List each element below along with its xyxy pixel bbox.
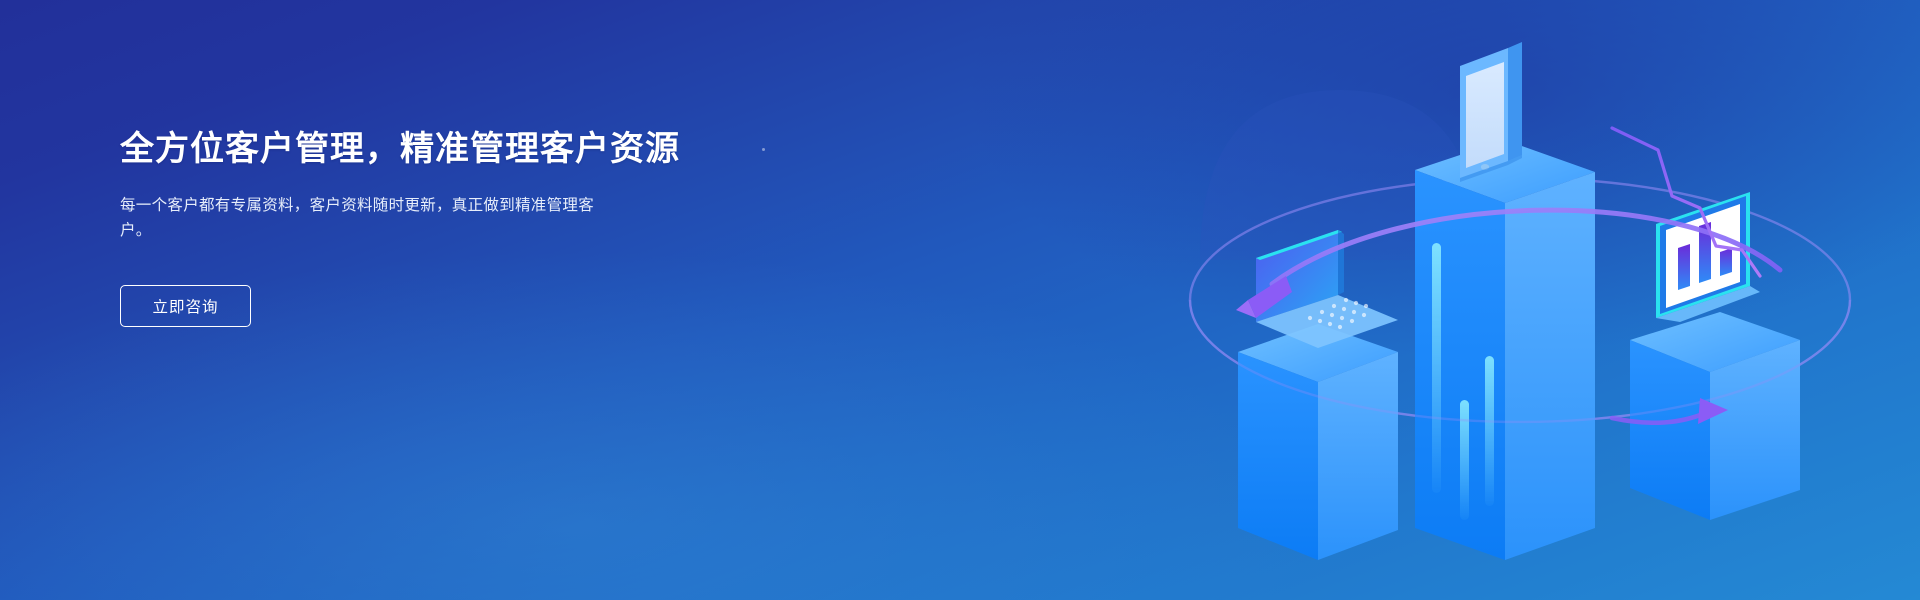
hero-copy: 全方位客户管理，精准管理客户资源 每一个客户都有专属资料，客户资料随时更新，真正… — [120, 128, 880, 327]
pillar-center — [1415, 140, 1595, 560]
hero-banner: 全方位客户管理，精准管理客户资源 每一个客户都有专属资料，客户资料随时更新，真正… — [0, 0, 1920, 600]
hero-illustration — [1160, 0, 1920, 600]
monitor-icon — [1656, 192, 1760, 322]
consult-now-button[interactable]: 立即咨询 — [120, 285, 251, 327]
pillar-left — [1238, 324, 1398, 560]
page-title: 全方位客户管理，精准管理客户资源 — [120, 128, 880, 171]
hero-description: 每一个客户都有专属资料，客户资料随时更新，真正做到精准管理客户。 — [120, 193, 598, 243]
tablet-icon — [1460, 42, 1522, 182]
